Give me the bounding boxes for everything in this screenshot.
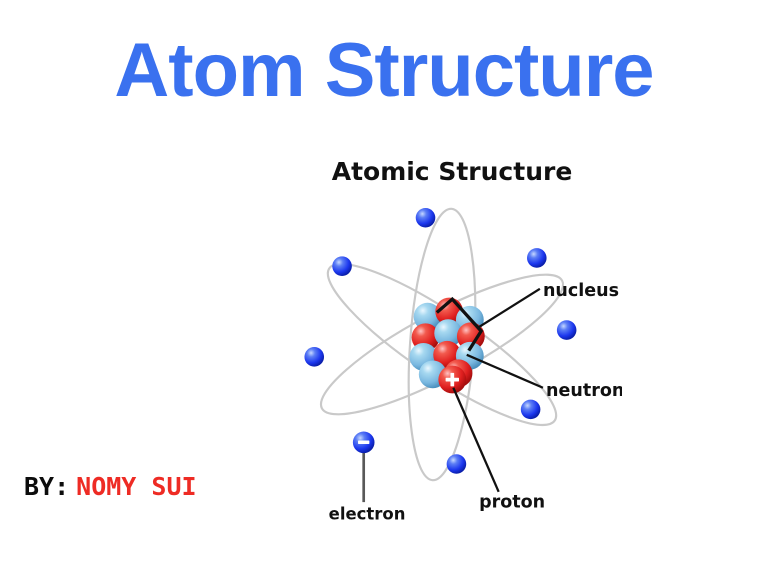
label-electron: electron <box>329 505 406 524</box>
label-nucleus: nucleus <box>543 281 619 301</box>
page-title: Atom Structure <box>0 28 768 114</box>
atom-diagram-svg: nucleus neutron proton electron <box>262 192 622 532</box>
byline: BY:NOMY SUI <box>24 472 197 502</box>
figure-caption: Atomic Structure <box>232 157 672 187</box>
electron-left <box>304 347 324 367</box>
nucleus-leader-line <box>479 289 540 327</box>
proton-leader-line <box>453 388 498 492</box>
electron-upper-left <box>332 256 352 276</box>
neutron-leader-line <box>467 355 543 388</box>
electron-lower-right <box>521 400 541 420</box>
electron-minus-icon <box>358 441 369 445</box>
electron-upper-right <box>527 248 547 268</box>
electron-bottom <box>447 454 467 474</box>
label-neutron: neutron <box>546 381 622 401</box>
atom-structure-diagram: nucleus neutron proton electron <box>262 192 622 532</box>
electron-right <box>557 320 577 340</box>
slide-canvas: Atom Structure Atomic Structure <box>0 0 768 561</box>
proton-plus-icon <box>450 373 454 386</box>
label-proton: proton <box>479 492 545 512</box>
electron-top <box>416 208 436 228</box>
byline-label: BY: <box>24 472 69 501</box>
byline-author-name: NOMY SUI <box>76 472 196 501</box>
